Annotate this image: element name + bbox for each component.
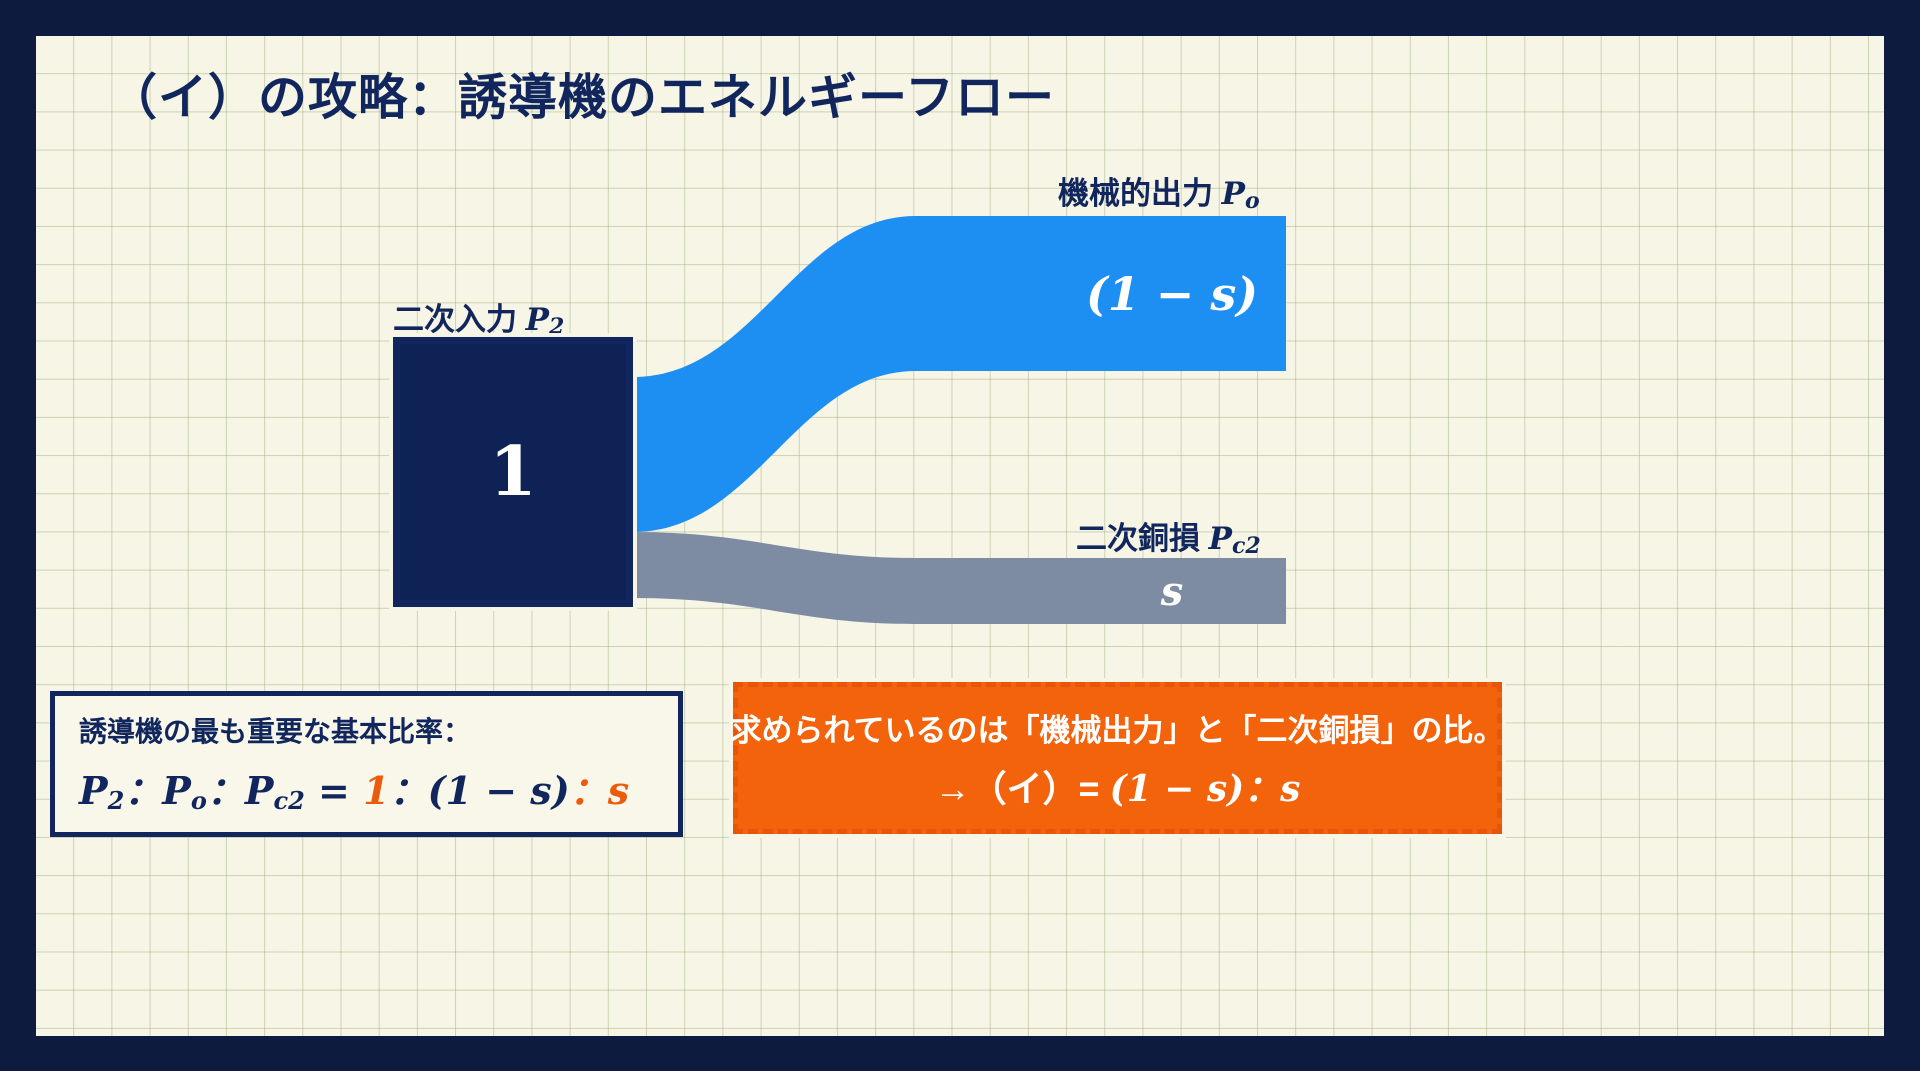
pc2-node-label-symbol: P (1209, 521, 1232, 557)
slide-canvas: 二次入力 P2 1 機械的出力 Po (1 − s) 二次銅損 Pc2 s 誘導… (0, 0, 1920, 1071)
eq-po: P (162, 768, 191, 813)
energy-flow-ribbons (36, 36, 1884, 1036)
p2-node-label: 二次入力 P2 (393, 294, 564, 340)
pc2-node-label-subscript: c2 (1232, 533, 1261, 559)
answer-box-line2-value: (1 − s)：s (1110, 768, 1301, 810)
po-node-label-subscript: o (1245, 188, 1260, 214)
ratio-callout-box: 誘導機の最も重要な基本比率： P2：Po：Pc2 = 1：(1 − s)：s (50, 691, 683, 837)
eq-colon-1: ： (390, 768, 428, 813)
p2-node-label-symbol: P (526, 302, 549, 338)
p2-node-value: 1 (489, 432, 536, 512)
graph-paper-panel: 二次入力 P2 1 機械的出力 Po (1 − s) 二次銅損 Pc2 s 誘導… (36, 36, 1884, 1036)
eq-pc2-sub: c2 (273, 786, 304, 815)
po-node-label-symbol: P (1222, 176, 1245, 212)
answer-box-line1: 求められているのは「機械出力」と「二次銅損」の比。 (730, 705, 1504, 750)
page-title: （イ）の攻略：誘導機のエネルギーフロー (108, 58, 1055, 129)
pc2-node-label: 二次銅損 Pc2 (1076, 513, 1261, 559)
pc2-node-value: s (1161, 568, 1184, 615)
eq-value-2: (1 − s) (428, 768, 570, 813)
po-node-label: 機械的出力 Po (1058, 168, 1260, 214)
eq-p2: P (79, 768, 108, 813)
eq-p2-sub: 2 (108, 786, 125, 815)
flow-ribbon-copper-loss (633, 532, 1058, 624)
ratio-box-equation: P2：Po：Pc2 = 1：(1 − s)：s (79, 760, 658, 815)
node-secondary-input[interactable]: 1 (393, 337, 633, 607)
eq-value-1: 1 (363, 768, 389, 813)
answer-box-line2: →（イ）= (1 − s)：s (935, 760, 1301, 812)
eq-value-3: s (608, 768, 629, 813)
eq-colon-2: ： (570, 768, 608, 813)
eq-equals: = (305, 768, 363, 813)
flow-ribbon-mechanical-output (633, 216, 1058, 532)
node-mechanical-output[interactable]: (1 − s) (1058, 216, 1286, 371)
eq-sep2: ： (207, 768, 245, 813)
eq-po-sub: o (191, 786, 207, 815)
po-node-value: (1 − s) (1086, 267, 1258, 321)
answer-box-line2-prefix: →（イ）= (935, 768, 1110, 809)
node-copper-loss[interactable]: s (1058, 558, 1286, 624)
p2-node-label-text: 二次入力 (393, 302, 526, 337)
pc2-node-label-text: 二次銅損 (1076, 521, 1209, 556)
ratio-box-heading: 誘導機の最も重要な基本比率： (79, 710, 658, 750)
eq-sep1: ： (124, 768, 162, 813)
eq-pc2: P (245, 768, 274, 813)
answer-callout-box: 求められているのは「機械出力」と「二次銅損」の比。 →（イ）= (1 − s)：… (733, 682, 1502, 834)
po-node-label-text: 機械的出力 (1058, 176, 1222, 211)
